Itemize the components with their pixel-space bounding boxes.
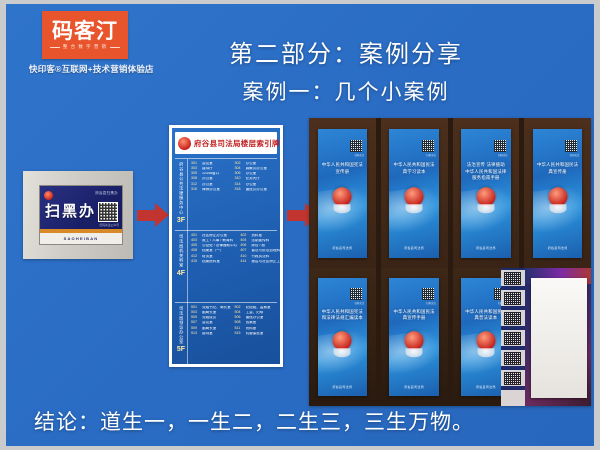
room-entry: 405公证处 / 法律援助中心	[191, 244, 237, 248]
slide-title-part: 第二部分：案例分享	[156, 34, 536, 69]
room-entry: 403政工 / 人事 / 教育科	[191, 239, 237, 243]
room-entry: 511资料室	[235, 327, 276, 331]
poster-title: 中华人民共和国宪法宣传册	[322, 162, 364, 175]
poster-item: 扫码关注 中华人民共和国民法典宣传手册 府谷县司法局	[389, 278, 438, 397]
room-entry: 406综合 / 股	[240, 244, 280, 248]
floor-number-3: 3F	[177, 217, 185, 224]
poster-qr-caption: 扫码关注	[355, 153, 365, 157]
logo-badge: 码客汀 整 合 数 字 营 销	[42, 11, 128, 59]
national-emblem-icon	[475, 331, 497, 357]
national-emblem-icon	[44, 191, 53, 200]
national-emblem-icon	[475, 187, 497, 213]
floor-4-rooms: 401社区矫正办公室 403政工 / 人事 / 教育科 405公证处 / 法律援…	[188, 231, 280, 303]
floor-name-3: 府谷县公共法律服务中心	[179, 162, 183, 215]
room-entry: 412财务室	[191, 255, 237, 259]
room-entry: 402资料室	[240, 234, 280, 238]
room-entry: 306办公室	[235, 172, 276, 176]
poster-item: 扫码关注 中华人民共和国民法典学习读本 府谷县司法局	[389, 129, 438, 258]
floor-number-5: 5F	[177, 346, 185, 353]
qr-code-icon	[422, 140, 434, 152]
poster-footer: 府谷县司法局	[318, 246, 367, 250]
poster-title: 中华人民共和国宪法和法律法规汇编读本	[322, 309, 364, 322]
poster-title: 中华人民共和国民法典宣传手册	[393, 309, 435, 322]
room-entry: 502纪检组、监察室	[235, 306, 276, 310]
floor-5-rooms-right: 502纪检组、监察室 504工会、妇联 506值班办公室 508档案室 511资…	[235, 306, 276, 363]
room-entry: 316律师办公室	[191, 188, 232, 192]
door-sign-small-label: 府谷县扫黑办	[95, 191, 118, 196]
floor-5-rooms: 501党组书记、局长室 503副局长室 505党组成员 507会议室 509副局…	[188, 303, 277, 364]
door-sign-main-text: 扫黑办	[45, 204, 96, 219]
corner-white-poster	[531, 278, 587, 398]
room-entry: 515机要保密室	[235, 332, 276, 336]
room-entry: 506值班办公室	[235, 316, 276, 320]
floor-label-4: 司法局机关科室 4F	[175, 231, 188, 303]
poster-qr-caption: 扫码关注	[426, 301, 436, 305]
room-entry: 318值班员办公室	[235, 188, 276, 192]
qr-code-icon	[350, 140, 362, 152]
directory-title: 府谷县司法局楼层索引牌	[194, 138, 280, 149]
conclusion-text: 结论：道生一，一生二，二生三，三生万物。	[34, 406, 474, 436]
floor-4-rooms-left: 401社区矫正办公室 403政工 / 人事 / 教育科 405公证处 / 法律援…	[191, 234, 237, 301]
floor-3-rooms-left: 301会议室 303接待厅 30512348窗口 308办公室 312办公室 3…	[191, 162, 232, 229]
poster-cell: 扫码关注 中华人民共和国宪法和法律法规汇编读本 府谷县司法局	[309, 268, 376, 406]
poster-footer: 府谷县司法局	[533, 246, 582, 250]
floor-5-rooms-left: 501党组书记、局长室 503副局长室 505党组成员 507会议室 509副局…	[191, 306, 232, 363]
poster-qr-caption: 扫码关注	[426, 153, 436, 157]
room-entry: 304调解员办公室	[235, 167, 276, 171]
room-entry: 30512348窗口	[191, 172, 232, 176]
logo-rule-right	[110, 47, 120, 48]
photo-corner-display	[501, 268, 591, 406]
national-emblem-icon	[403, 331, 425, 357]
national-emblem-icon	[403, 187, 425, 213]
photo-door-sign: 府谷县扫黑办 扫黑办 扫码关注公众号 SAOHEIBAN	[23, 171, 133, 259]
room-entry: 303接待厅	[191, 167, 232, 171]
qr-code-icon	[494, 140, 506, 152]
directory-board: 府谷县司法局楼层索引牌 府谷县公共法律服务中心 3F 301会议室 303接待厅…	[172, 128, 280, 364]
room-entry: 415档案资料室	[191, 260, 237, 264]
national-emblem-icon	[178, 137, 191, 150]
door-sign-qr-caption: 扫码关注公众号	[99, 223, 119, 227]
poster-item: 扫码关注 中华人民共和国宪法和法律法规汇编读本 府谷县司法局	[318, 278, 367, 397]
room-entry: 408档案室（一）	[191, 249, 237, 253]
floor-label-5: 司法局领导办公室 5F	[175, 303, 188, 364]
photo-poster-collection: 扫码关注 中华人民共和国宪法宣传册 府谷县司法局 扫码关注 中华人民共和国民法典…	[309, 118, 591, 406]
room-entry: 507会议室	[191, 321, 232, 325]
floor-number-4: 4F	[177, 270, 185, 277]
room-entry: 302办公室	[235, 162, 276, 166]
door-sign-plate: 府谷县扫黑办 扫黑办 扫码关注公众号 SAOHEIBAN	[39, 185, 123, 245]
slide-subtitle-case: 案例一：几个小案例	[156, 76, 536, 106]
poster-title: 中华人民共和国民法典学习读本	[393, 162, 435, 175]
floor-3-rooms: 301会议室 303接待厅 30512348窗口 308办公室 312办公室 3…	[188, 159, 277, 231]
poster-item: 扫码关注 法治宣传 法律援助 中华人民共和国法律服务指南手册 府谷县司法局	[461, 129, 510, 258]
room-entry: 504工会、妇联	[235, 311, 276, 315]
photo-floor-directory: 府谷县司法局楼层索引牌 府谷县公共法律服务中心 3F 301会议室 303接待厅…	[169, 125, 283, 367]
room-entry: 513接待室	[191, 332, 232, 336]
room-entry: 414基层与社区矫正工作科	[240, 260, 280, 264]
poster-qr-caption: 扫码关注	[570, 153, 580, 157]
qr-code-icon	[422, 288, 434, 300]
qr-code-icon	[565, 140, 577, 152]
door-sign-pinyin-bar: SAOHEIBAN	[40, 233, 122, 244]
directory-floor-5: 司法局领导办公室 5F 501党组书记、局长室 503副局长室 505党组成员 …	[175, 302, 277, 364]
room-entry: 509副局长室	[191, 327, 232, 331]
room-entry: 505党组成员	[191, 316, 232, 320]
floor-4-rooms-right: 402资料室 404法制宣传科 406综合 / 股 407普法与依法治理科 41…	[240, 234, 280, 301]
room-entry: 314办公室	[235, 183, 276, 187]
room-entry: 407普法与依法治理科	[240, 249, 280, 253]
national-emblem-icon	[331, 187, 353, 213]
poster-footer: 府谷县司法局	[318, 385, 367, 389]
room-entry: 508档案室	[235, 321, 276, 325]
room-entry: 301会议室	[191, 162, 232, 166]
logo-rule-left	[50, 47, 60, 48]
door-sign-pinyin: SAOHEIBAN	[64, 236, 99, 241]
room-entry: 310业务大厅	[235, 177, 276, 181]
logo-brand-subtitle: 整 合 数 字 营 销	[63, 45, 107, 50]
poster-item: 扫码关注 中华人民共和国宪法宣传册 府谷县司法局	[318, 129, 367, 258]
qr-code-icon	[350, 288, 362, 300]
qr-strip	[501, 268, 525, 406]
poster-cell: 扫码关注 中华人民共和国民法典宣传册 府谷县司法局	[524, 118, 591, 268]
floor-name-5: 司法局领导办公室	[179, 306, 183, 344]
room-entry: 410行政执法科	[240, 255, 280, 259]
brand-logo: 码客汀 整 合 数 字 营 销 快印客®互联网+技术营销体验店	[29, 11, 141, 75]
poster-footer: 府谷县司法局	[461, 246, 510, 250]
floor-name-4: 司法局机关科室	[179, 234, 183, 268]
poster-qr-caption: 扫码关注	[355, 301, 365, 305]
poster-cell: 扫码关注 中华人民共和国民法典宣传手册 府谷县司法局	[381, 268, 448, 406]
poster-cell: 扫码关注 中华人民共和国宪法宣传册 府谷县司法局	[309, 118, 376, 268]
room-entry: 401社区矫正办公室	[191, 234, 237, 238]
directory-header: 府谷县司法局楼层索引牌	[175, 132, 277, 154]
logo-tagline: 快印客®互联网+技术营销体验店	[29, 63, 141, 75]
presentation-slide: 码客汀 整 合 数 字 营 销 快印客®互联网+技术营销体验店 第二部分：案例分…	[6, 4, 594, 446]
floor-3-rooms-right: 302办公室 304调解员办公室 306办公室 310业务大厅 314办公室 3…	[235, 162, 276, 229]
poster-qr-caption: 扫码关注	[498, 153, 508, 157]
room-entry: 503副局长室	[191, 311, 232, 315]
poster-cell: 扫码关注 中华人民共和国民法典学习读本 府谷县司法局	[381, 118, 448, 268]
directory-floor-4: 司法局机关科室 4F 401社区矫正办公室 403政工 / 人事 / 教育科 4…	[175, 230, 277, 303]
floor-label-3: 府谷县公共法律服务中心 3F	[175, 159, 188, 231]
poster-item: 扫码关注 中华人民共和国民法典宣传册 府谷县司法局	[533, 129, 582, 258]
room-entry: 501党组书记、局长室	[191, 306, 232, 310]
national-emblem-icon	[331, 331, 353, 357]
room-entry: 308办公室	[191, 177, 232, 181]
poster-footer: 府谷县司法局	[389, 246, 438, 250]
qr-code-icon	[98, 202, 118, 222]
poster-row-top: 扫码关注 中华人民共和国宪法宣传册 府谷县司法局 扫码关注 中华人民共和国民法典…	[309, 118, 591, 268]
logo-divider: 整 合 数 字 营 销	[50, 45, 120, 50]
directory-floor-3: 府谷县公共法律服务中心 3F 301会议室 303接待厅 30512348窗口 …	[175, 158, 277, 231]
national-emblem-icon	[547, 187, 569, 213]
poster-footer: 府谷县司法局	[389, 385, 438, 389]
room-entry: 312办公室	[191, 183, 232, 187]
poster-title: 中华人民共和国民法典宣传册	[537, 162, 579, 175]
logo-brand-name: 码客汀	[52, 21, 118, 42]
poster-title: 法治宣传 法律援助 中华人民共和国法律服务指南手册	[465, 162, 507, 182]
poster-cell: 扫码关注 法治宣传 法律援助 中华人民共和国法律服务指南手册 府谷县司法局	[453, 118, 520, 268]
room-entry: 404法制宣传科	[240, 239, 280, 243]
